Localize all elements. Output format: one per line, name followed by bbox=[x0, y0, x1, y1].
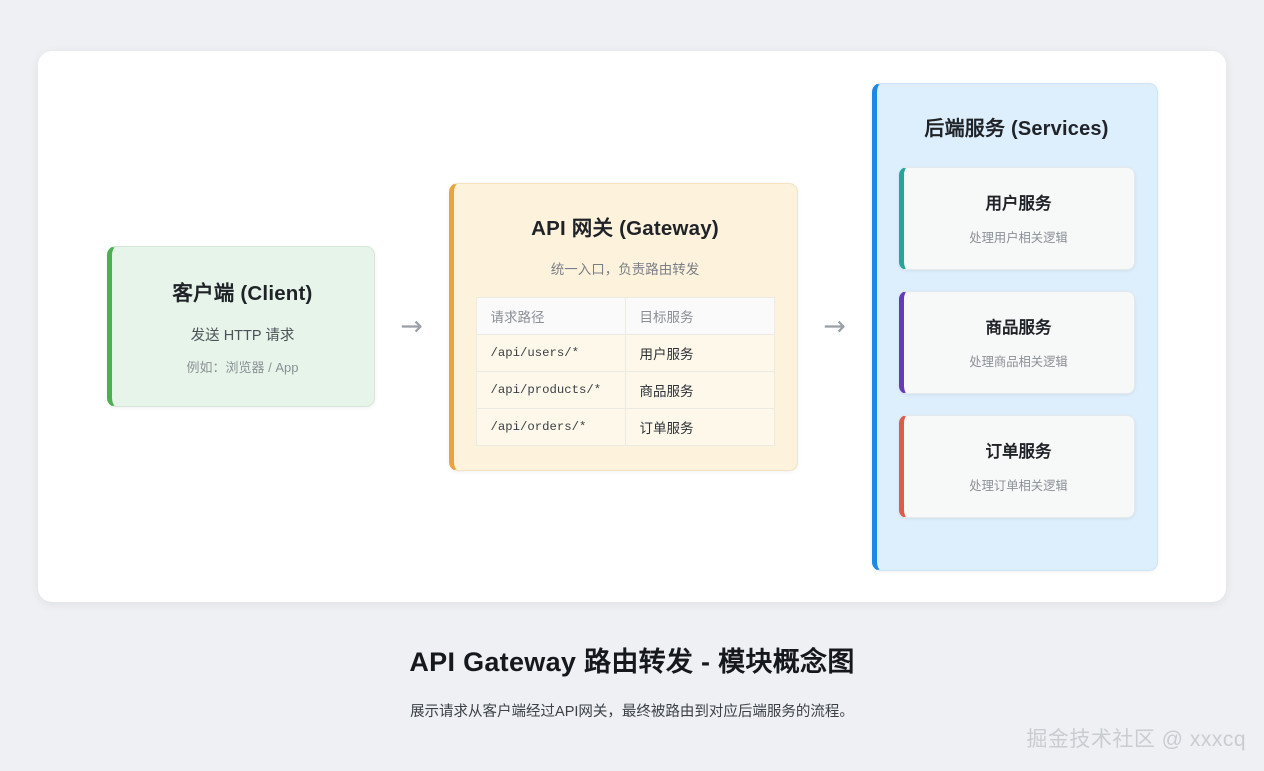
flow-row: 客户端 (Client) 发送 HTTP 请求 例如：浏览器 / App → A… bbox=[38, 51, 1226, 602]
service-description: 处理商品相关逻辑 bbox=[969, 352, 1067, 370]
table-header-row: 请求路径 目标服务 bbox=[476, 297, 774, 334]
client-title: 客户端 (Client) bbox=[172, 276, 312, 306]
gateway-node[interactable]: API 网关 (Gateway) 统一入口，负责路由转发 请求路径 目标服务 /… bbox=[449, 183, 798, 471]
table-row[interactable]: /api/users/* 用户服务 bbox=[476, 334, 774, 371]
arrow-right-icon-2: → bbox=[798, 313, 872, 340]
services-panel[interactable]: 后端服务 (Services) 用户服务 处理用户相关逻辑 商品服务 处理商品相… bbox=[872, 83, 1158, 571]
routing-table: 请求路径 目标服务 /api/users/* 用户服务 /api/product… bbox=[476, 297, 775, 446]
arrow-right-icon-1: → bbox=[375, 313, 449, 340]
watermark: 掘金技术社区 @ xxxcq bbox=[1026, 723, 1246, 753]
table-row[interactable]: /api/products/* 商品服务 bbox=[476, 371, 774, 408]
gateway-title: API 网关 (Gateway) bbox=[531, 211, 719, 241]
page-title: API Gateway 路由转发 - 模块概念图 bbox=[0, 640, 1264, 679]
caption-block: API Gateway 路由转发 - 模块概念图 展示请求从客户端经过API网关… bbox=[0, 640, 1264, 721]
route-service: 用户服务 bbox=[625, 334, 774, 371]
route-path: /api/products/* bbox=[476, 371, 625, 408]
service-description: 处理用户相关逻辑 bbox=[969, 228, 1067, 246]
page-root: 客户端 (Client) 发送 HTTP 请求 例如：浏览器 / App → A… bbox=[0, 0, 1264, 771]
service-name: 商品服务 bbox=[986, 314, 1052, 338]
service-card-user[interactable]: 用户服务 处理用户相关逻辑 bbox=[899, 167, 1135, 270]
service-name: 用户服务 bbox=[986, 190, 1052, 214]
service-card-order[interactable]: 订单服务 处理订单相关逻辑 bbox=[899, 415, 1135, 518]
route-path: /api/users/* bbox=[476, 334, 625, 371]
service-name: 订单服务 bbox=[986, 438, 1052, 462]
services-title: 后端服务 (Services) bbox=[924, 112, 1108, 141]
table-row[interactable]: /api/orders/* 订单服务 bbox=[476, 408, 774, 445]
routing-table-head: 请求路径 目标服务 bbox=[476, 297, 774, 334]
gateway-subtitle: 统一入口，负责路由转发 bbox=[551, 258, 700, 278]
client-description: 发送 HTTP 请求 bbox=[191, 324, 295, 345]
service-description: 处理订单相关逻辑 bbox=[969, 476, 1067, 494]
page-subtitle: 展示请求从客户端经过API网关，最终被路由到对应后端服务的流程。 bbox=[0, 700, 1264, 721]
routing-table-body: /api/users/* 用户服务 /api/products/* 商品服务 /… bbox=[476, 334, 774, 445]
route-service: 商品服务 bbox=[625, 371, 774, 408]
column-header-path: 请求路径 bbox=[476, 297, 625, 334]
client-node[interactable]: 客户端 (Client) 发送 HTTP 请求 例如：浏览器 / App bbox=[107, 246, 375, 407]
column-header-service: 目标服务 bbox=[625, 297, 774, 334]
client-example: 例如：浏览器 / App bbox=[187, 357, 299, 376]
route-service: 订单服务 bbox=[625, 408, 774, 445]
service-card-product[interactable]: 商品服务 处理商品相关逻辑 bbox=[899, 291, 1135, 394]
services-list: 用户服务 处理用户相关逻辑 商品服务 处理商品相关逻辑 订单服务 处理订单相关逻… bbox=[899, 167, 1135, 518]
diagram-canvas: 客户端 (Client) 发送 HTTP 请求 例如：浏览器 / App → A… bbox=[38, 51, 1226, 602]
route-path: /api/orders/* bbox=[476, 408, 625, 445]
